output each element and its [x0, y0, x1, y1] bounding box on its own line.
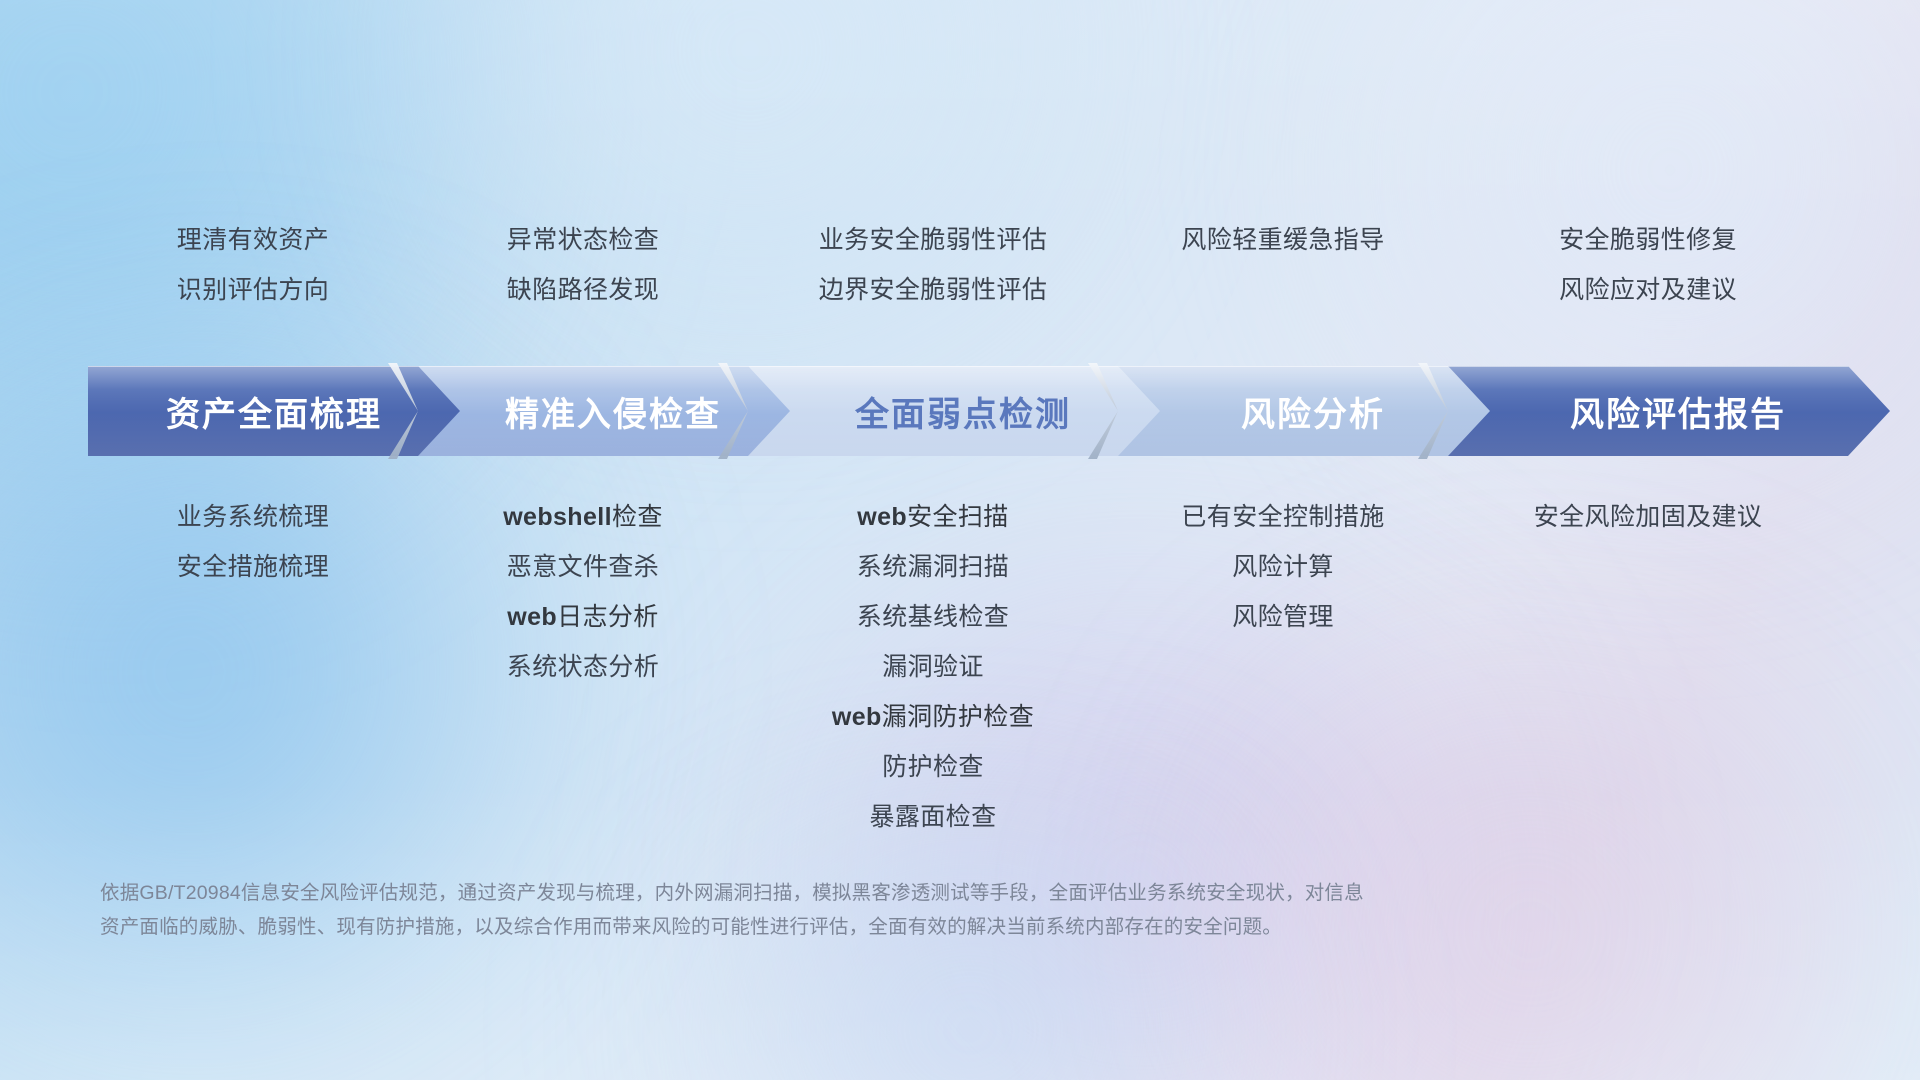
stage-arrow-label: 精准入侵检查: [505, 387, 721, 436]
annotation-item: 边界安全脆弱性评估: [819, 278, 1048, 303]
annotation-item: web漏洞防护检查: [832, 705, 1034, 730]
annotation-item: 异常状态检查: [507, 228, 659, 253]
annotation-item: 理清有效资产: [177, 228, 329, 253]
annotation-item: 安全脆弱性修复: [1559, 228, 1737, 253]
annotation-item: 恶意文件查杀: [507, 555, 659, 580]
annotation-item: 风险管理: [1232, 605, 1334, 630]
annotation-item: 缺陷路径发现: [507, 278, 659, 303]
stage-arrow-label: 资产全面梳理: [166, 387, 382, 436]
footnote-line-1: 依据GB/T20984信息安全风险评估规范，通过资产发现与梳理，内外网漏洞扫描，…: [100, 876, 1660, 910]
column-1-top-items: 理清有效资产识别评估方向: [88, 228, 418, 328]
column-3-bottom-items: web安全扫描系统漏洞扫描系统基线检查漏洞验证web漏洞防护检查防护检查暴露面检…: [748, 505, 1118, 855]
column-3-top-items: 业务安全脆弱性评估边界安全脆弱性评估: [748, 228, 1118, 328]
column-1-bottom-items: 业务系统梳理安全措施梳理: [88, 505, 418, 605]
annotation-item: 识别评估方向: [177, 278, 329, 303]
annotation-item: 已有安全控制措施: [1181, 505, 1384, 530]
annotation-item: 安全风险加固及建议: [1534, 505, 1763, 530]
annotation-item: 漏洞验证: [882, 655, 984, 680]
stage-arrow-5[interactable]: 风险评估报告: [1442, 366, 1890, 456]
stage-arrow-banner: 资产全面梳理精准入侵检查全面弱点检测风险分析风险评估报告: [88, 366, 1848, 456]
column-4-bottom-items: 已有安全控制措施风险计算风险管理: [1118, 505, 1448, 655]
column-2-bottom-items: webshell检查恶意文件查杀web日志分析系统状态分析: [418, 505, 748, 705]
annotation-item: 业务安全脆弱性评估: [819, 228, 1048, 253]
column-5-top-items: 安全脆弱性修复风险应对及建议: [1448, 228, 1848, 328]
annotation-item: 安全措施梳理: [177, 555, 329, 580]
annotation-item: 系统漏洞扫描: [857, 555, 1009, 580]
column-4-top-items: 风险轻重缓急指导: [1118, 228, 1448, 278]
annotation-item: 风险应对及建议: [1559, 278, 1737, 303]
annotation-item: 系统状态分析: [507, 655, 659, 680]
stage-arrow-label: 风险分析: [1241, 387, 1385, 436]
annotation-item: 暴露面检查: [869, 805, 996, 830]
stage-arrow-label: 风险评估报告: [1570, 387, 1786, 436]
annotation-item: webshell检查: [503, 505, 663, 530]
annotation-item: 风险计算: [1232, 555, 1334, 580]
annotation-item: 业务系统梳理: [177, 505, 329, 530]
process-diagram: 理清有效资产识别评估方向异常状态检查缺陷路径发现业务安全脆弱性评估边界安全脆弱性…: [0, 0, 1920, 1080]
footnote-paragraph: 依据GB/T20984信息安全风险评估规范，通过资产发现与梳理，内外网漏洞扫描，…: [100, 876, 1660, 944]
annotation-item: 防护检查: [882, 755, 984, 780]
column-2-top-items: 异常状态检查缺陷路径发现: [418, 228, 748, 328]
stage-arrow-3[interactable]: 全面弱点检测: [742, 366, 1160, 456]
annotation-item: 系统基线检查: [857, 605, 1009, 630]
column-5-bottom-items: 安全风险加固及建议: [1448, 505, 1848, 555]
annotation-item: 风险轻重缓急指导: [1181, 228, 1384, 253]
annotation-item: web日志分析: [507, 605, 658, 630]
stage-arrow-label: 全面弱点检测: [855, 387, 1071, 436]
annotation-item: web安全扫描: [857, 505, 1008, 530]
footnote-line-2: 资产面临的威胁、脆弱性、现有防护措施，以及综合作用而带来风险的可能性进行评估，全…: [100, 910, 1660, 944]
